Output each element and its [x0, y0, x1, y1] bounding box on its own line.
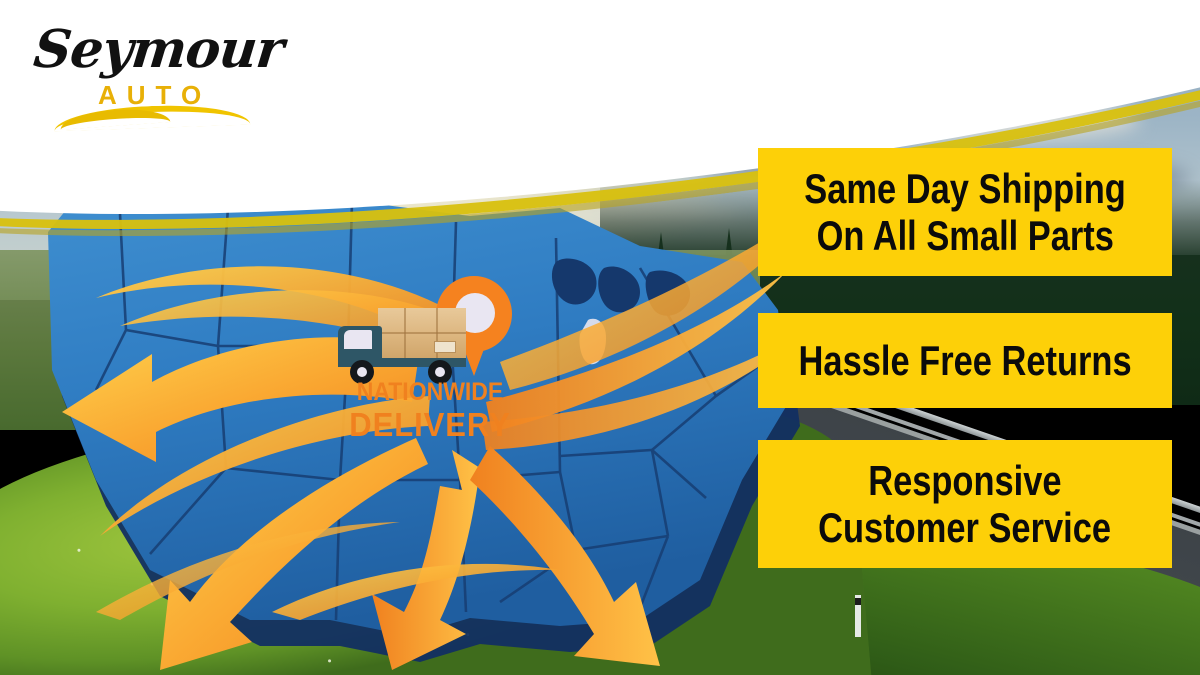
brand-logo[interactable]: Seymour AUTO — [26, 18, 256, 118]
callout-line: Same Day Shipping — [804, 165, 1126, 212]
callout-hassle-free-returns[interactable]: Hassle Free Returns — [758, 313, 1172, 408]
cloud — [520, 86, 770, 120]
callout-line: Responsive — [868, 457, 1061, 504]
nationwide-delivery-badge: NATIONWIDE DELIVERY — [318, 272, 538, 452]
callout-same-day-shipping[interactable]: Same Day Shipping On All Small Parts — [758, 148, 1172, 276]
delivery-truck-icon — [336, 306, 466, 384]
caption-line-2: DELIVERY — [328, 408, 531, 443]
cloud — [850, 100, 1140, 140]
road-reflector-post — [855, 595, 861, 637]
callout-line: Hassle Free Returns — [798, 337, 1131, 384]
callout-responsive-customer-service[interactable]: Responsive Customer Service — [758, 440, 1172, 568]
callout-line: Customer Service — [819, 504, 1112, 551]
logo-wordmark: Seymour — [31, 24, 285, 76]
caption-line-1: NATIONWIDE — [331, 380, 530, 405]
promo-banner: NATIONWIDE DELIVERY Seymour AUTO Same Da… — [0, 0, 1200, 675]
callout-line: On All Small Parts — [816, 212, 1113, 259]
delivery-caption: NATIONWIDE DELIVERY — [322, 380, 538, 443]
